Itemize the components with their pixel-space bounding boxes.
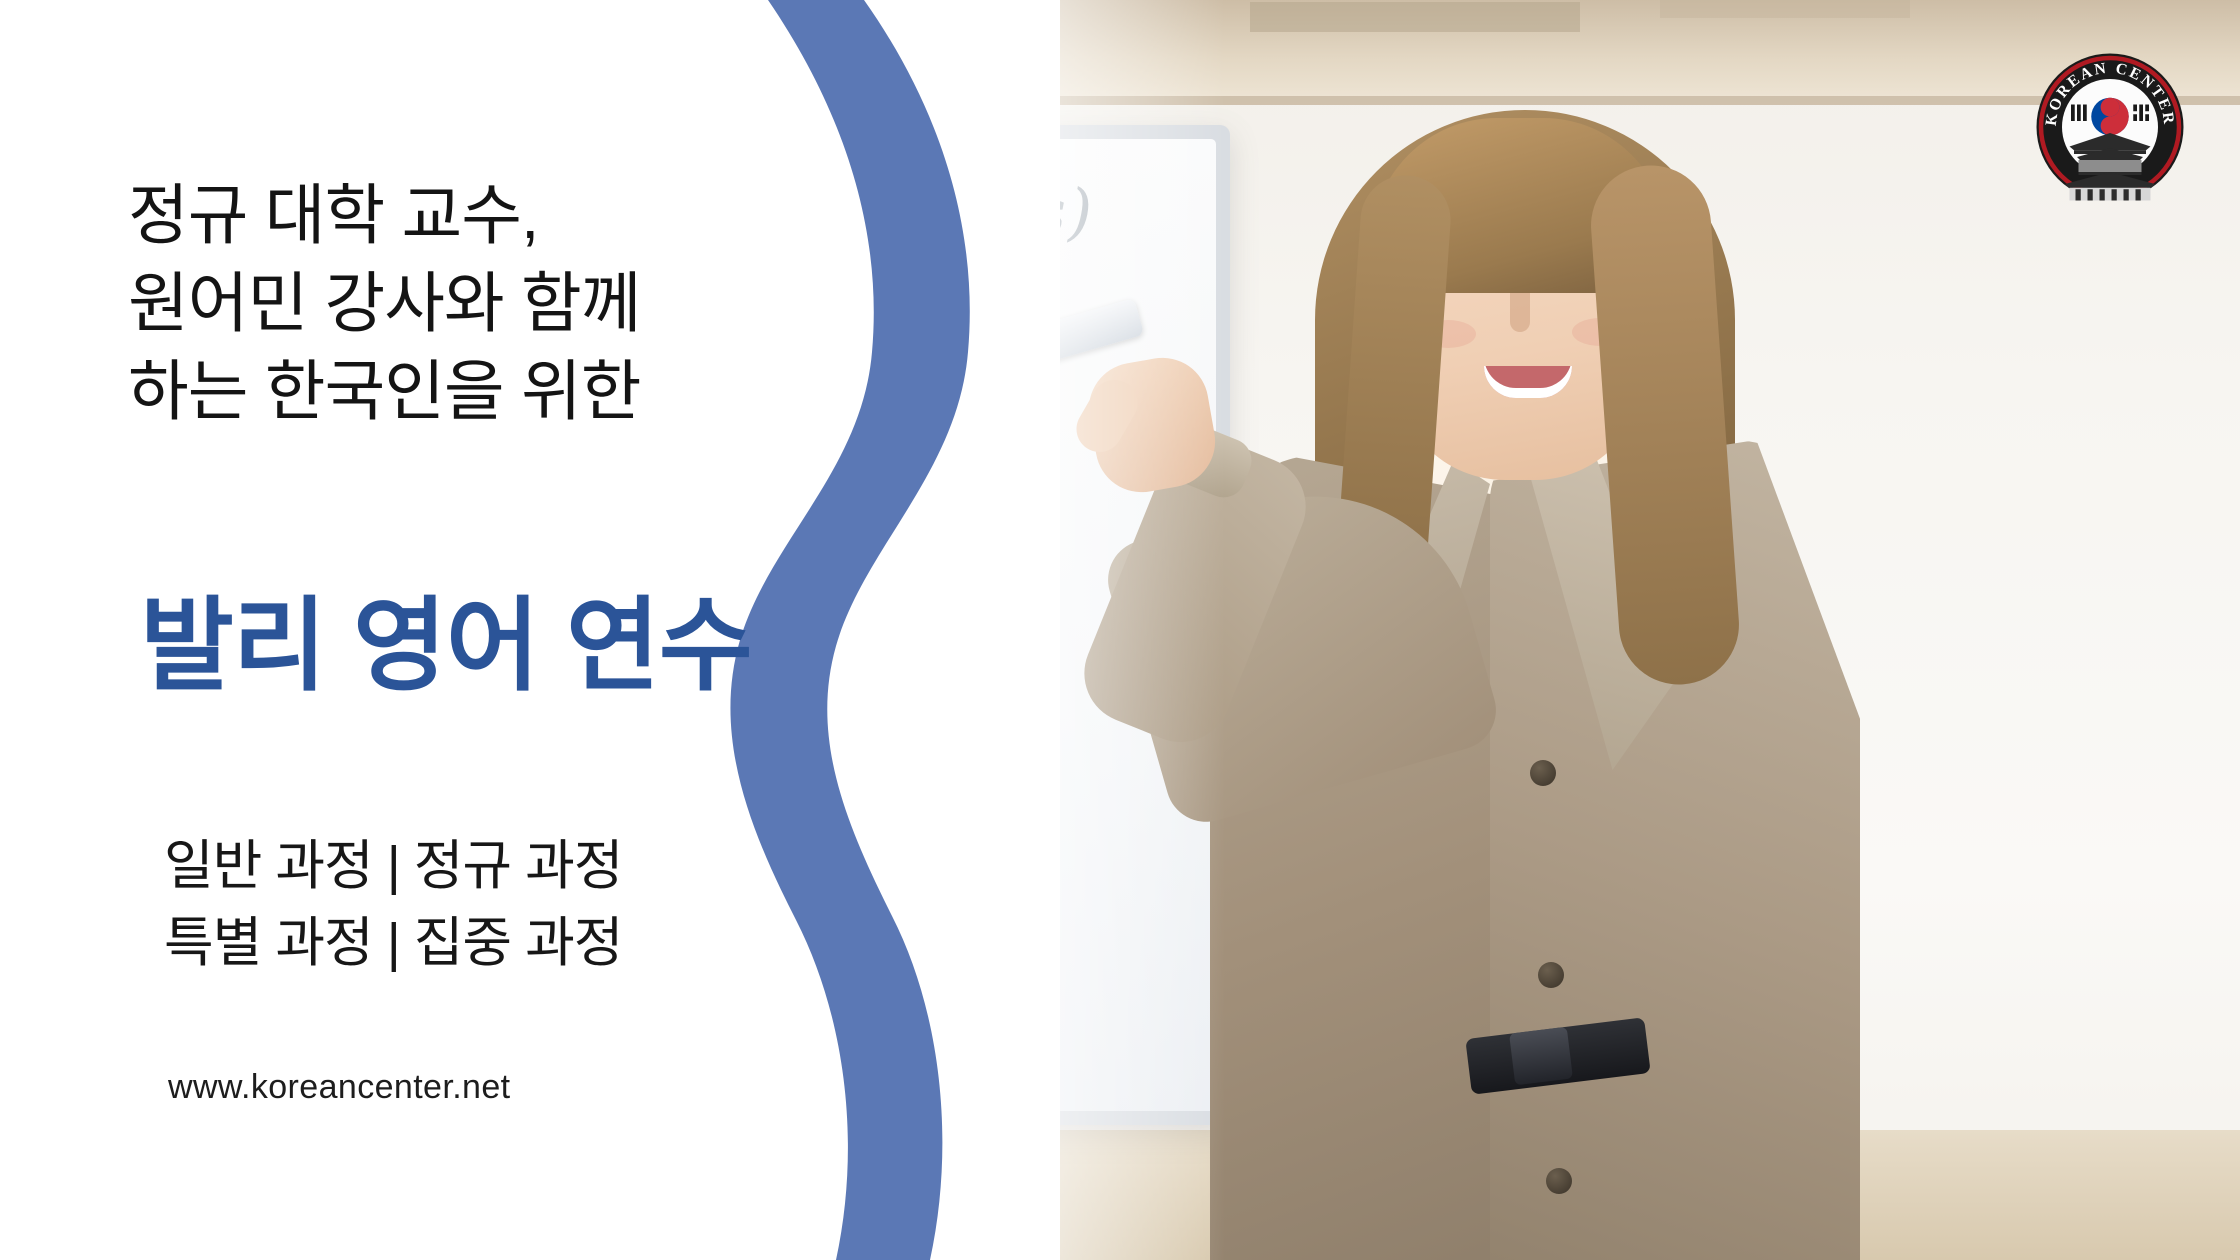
jacket-button bbox=[1546, 1168, 1572, 1194]
belt-buckle bbox=[1509, 1027, 1573, 1086]
headline-block: 정규 대학 교수, 원어민 강사와 함께 하는 한국인을 위한 bbox=[128, 172, 688, 435]
headline-line-3: 하는 한국인을 위한 bbox=[128, 348, 688, 436]
course-line-1: 일반 과정 | 정규 과정 bbox=[164, 828, 622, 905]
taegeuk-symbol bbox=[2091, 98, 2129, 136]
main-title: 발리 영어 연수 bbox=[140, 590, 752, 702]
jacket-button bbox=[1538, 962, 1564, 988]
headline-line-2: 원어민 강사와 함께 bbox=[128, 260, 688, 348]
jacket-button bbox=[1530, 760, 1556, 786]
left-text-panel: 정규 대학 교수, 원어민 강사와 함께 하는 한국인을 위한 발리 영어 연수… bbox=[0, 0, 700, 1260]
website-url[interactable]: www.koreancenter.net bbox=[168, 1068, 511, 1107]
nose bbox=[1510, 292, 1530, 332]
course-line-2: 특별 과정 | 집중 과정 bbox=[164, 905, 622, 982]
trigram-left bbox=[2071, 105, 2087, 122]
headline-line-1: 정규 대학 교수, bbox=[128, 172, 688, 260]
course-list: 일반 과정 | 정규 과정 특별 과정 | 집중 과정 bbox=[164, 828, 622, 981]
promo-banner: n (animals) 1 bbox=[0, 0, 2240, 1260]
korean-center-logo[interactable]: KOREAN CENTER bbox=[2035, 52, 2185, 202]
